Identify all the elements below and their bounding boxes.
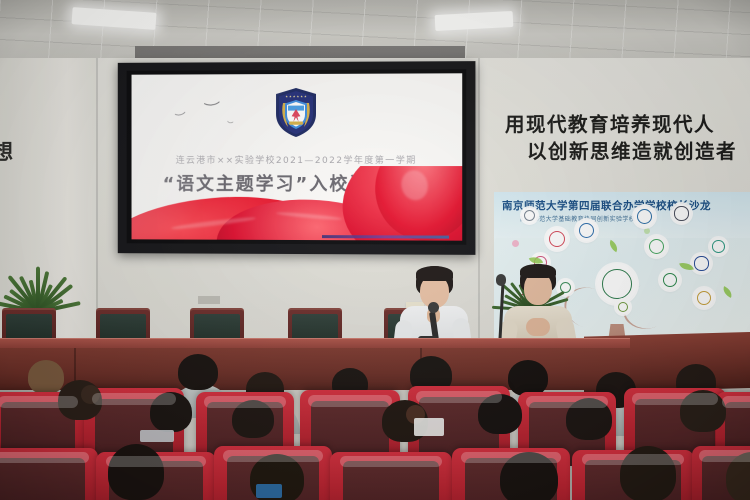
screen-color-strip xyxy=(322,235,449,239)
badge-gold-lower-right xyxy=(694,288,714,308)
wall-tag xyxy=(198,296,220,304)
seat-highlight xyxy=(582,454,685,465)
bird-silhouette-icon: ︶ xyxy=(226,122,233,130)
badge-olive-bottom xyxy=(616,300,630,314)
seat-highlight xyxy=(106,456,207,467)
badge-ring xyxy=(602,269,632,299)
decor-banner-title: 南京师范大学第四届联合办学学校校长沙龙 xyxy=(502,198,750,213)
badge-ring xyxy=(697,291,712,306)
audience-head xyxy=(108,444,164,500)
badge-ring xyxy=(649,239,665,255)
badge-red-upper-left xyxy=(546,228,568,250)
wall-character-fragment: 想 xyxy=(0,142,15,163)
badge-green-lower-right xyxy=(660,270,680,290)
projection-screen-frame: ★ ★ ★ ★ ★ ★ ︶ ︶ ︶ 连云港市××实验学校2021—2022学年度… xyxy=(118,61,476,255)
microphone-head xyxy=(428,302,439,313)
laptop-screen-glint xyxy=(140,430,174,442)
badge-crest-center xyxy=(597,264,637,304)
seat-highlight xyxy=(0,452,89,463)
badge-ring xyxy=(674,206,688,220)
wall-slogan-line-1: 用现代教育培养现代人 xyxy=(505,112,750,139)
seat-highlight xyxy=(461,452,560,463)
seat-highlight xyxy=(340,456,443,467)
badge-ring xyxy=(637,209,653,225)
bird-silhouette-icon: ︶ xyxy=(175,113,188,124)
stage-chair[interactable] xyxy=(96,308,150,342)
seat-highlight xyxy=(722,396,750,408)
stage-chair[interactable] xyxy=(288,308,342,342)
seat-highlight xyxy=(204,396,286,408)
wall-slogan-line-2: 以创新思维造就创造者 xyxy=(527,139,750,166)
audience-head xyxy=(508,360,548,396)
speaker-hair-fringe xyxy=(520,264,556,278)
seat-highlight xyxy=(0,396,78,408)
speaker-clasped-hands xyxy=(526,318,550,336)
slide-subtitle: 连云港市××实验学校2021—2022学年度第一学期 xyxy=(132,153,463,166)
badge-blue-upper-left xyxy=(576,220,597,241)
seat-highlight xyxy=(526,396,608,408)
badge-ring xyxy=(579,223,595,239)
audience-seat[interactable] xyxy=(0,448,98,500)
badge-blue-top-center xyxy=(634,206,655,227)
badge-dark-top-right xyxy=(672,204,691,223)
badge-green-right xyxy=(646,236,667,257)
wall-slogan: 用现代教育培养现代人 以创新思维造就创造者 xyxy=(505,112,750,166)
school-crest: ★ ★ ★ ★ ★ ★ xyxy=(274,87,318,138)
microphone-head xyxy=(496,274,506,286)
badge-ring xyxy=(663,273,678,288)
seat-highlight xyxy=(699,450,750,462)
badge-gray-top xyxy=(522,208,537,223)
badge-ring xyxy=(618,302,628,312)
leaf-shape xyxy=(721,286,734,298)
notebook-glint xyxy=(256,484,282,498)
badge-navy-right xyxy=(692,254,711,273)
seat-highlight xyxy=(416,391,502,403)
seat-highlight xyxy=(632,393,718,405)
red-silk-graphic xyxy=(132,166,463,241)
speaker-hair-fringe xyxy=(416,266,453,281)
seat-highlight xyxy=(308,395,392,407)
seat-highlight xyxy=(92,393,176,405)
leaf-shape xyxy=(607,240,621,252)
badge-ring xyxy=(549,231,565,247)
badge-teal-far-right xyxy=(710,238,727,255)
confetti-dot xyxy=(512,240,519,247)
stage-chair[interactable] xyxy=(2,308,56,342)
wall-seam xyxy=(478,58,480,358)
confetti-dot xyxy=(644,228,650,234)
bird-silhouette-icon: ︶ xyxy=(204,101,222,115)
audience-seat[interactable] xyxy=(330,452,452,500)
badge-ring xyxy=(524,210,535,221)
projection-screen: ★ ★ ★ ★ ★ ★ ︶ ︶ ︶ 连云港市××实验学校2021—2022学年度… xyxy=(132,73,463,240)
seat-highlight xyxy=(223,450,322,462)
svg-text:★ ★ ★ ★ ★ ★: ★ ★ ★ ★ ★ ★ xyxy=(285,94,307,98)
badge-ring xyxy=(694,256,708,270)
conference-room-photo: 想 用现代教育培养现代人 以创新思维造就创造者 ★ ★ ★ ★ ★ ★ ︶ xyxy=(0,0,750,500)
paper-glint xyxy=(414,418,444,436)
audience-head xyxy=(28,360,64,394)
audience-head xyxy=(178,354,218,390)
stage-chair[interactable] xyxy=(190,308,244,342)
badge-ring xyxy=(712,240,725,253)
